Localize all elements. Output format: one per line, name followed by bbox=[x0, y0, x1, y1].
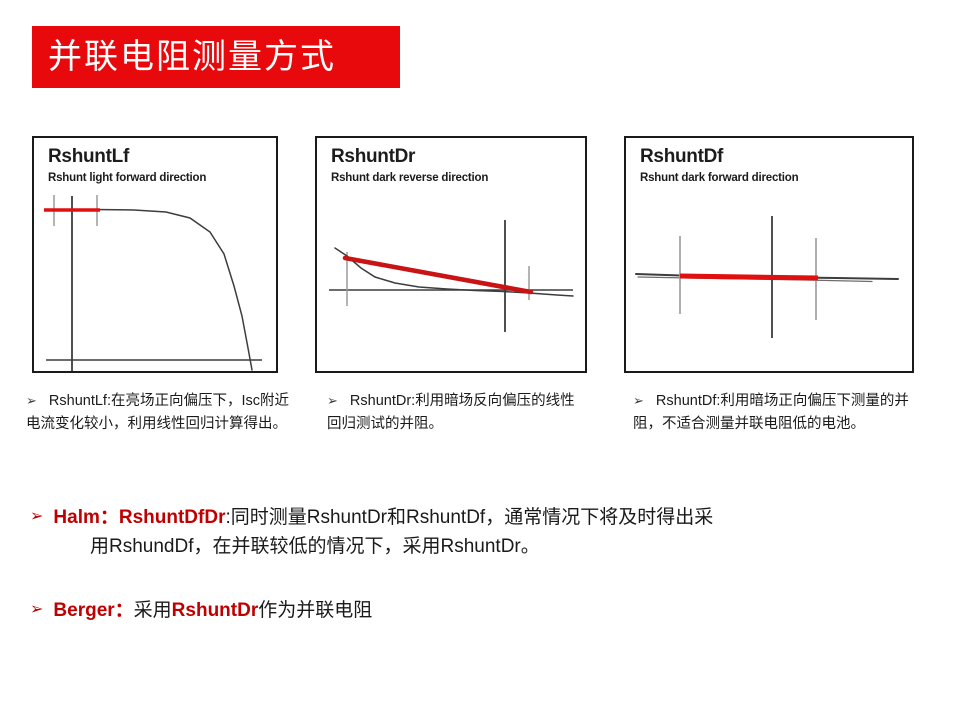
chart-panel-rshuntlf: RshuntLf Rshunt light forward direction bbox=[32, 136, 278, 373]
note-rshuntdf: ➢RshuntDf:利用暗场正向偏压下测量的并阻，不适合测量并联电阻低的电池。 bbox=[633, 390, 913, 437]
bullet-arrow-icon: ➢ bbox=[30, 508, 43, 525]
conclusion-halm: ➢Halm：RshuntDfDr:同时测量RshuntDr和RshuntDf，通… bbox=[30, 503, 930, 562]
iv-curve bbox=[54, 210, 252, 371]
conclusion-brand-halm: Halm： bbox=[53, 507, 118, 528]
bullet-arrow-icon: ➢ bbox=[30, 601, 43, 618]
conclusion-line1-halm: :同时测量RshuntDr和RshuntDf，通常情况下将及时得出采 bbox=[225, 507, 713, 528]
chart-rshuntdf bbox=[626, 138, 912, 371]
note-lead-rshuntdf: RshuntDf: bbox=[656, 393, 720, 409]
chart-rshuntlf bbox=[34, 138, 276, 371]
iv-curve bbox=[335, 248, 573, 296]
chart-panel-rshuntdr: RshuntDr Rshunt dark reverse direction bbox=[315, 136, 587, 373]
bullet-arrow-icon: ➢ bbox=[327, 393, 338, 408]
slide-title-banner: 并联电阻测量方式 bbox=[32, 26, 400, 88]
page-title: 并联电阻测量方式 bbox=[48, 40, 336, 74]
linear-regression-fit bbox=[680, 276, 818, 278]
chart-rshuntdr bbox=[317, 138, 585, 371]
conclusion-line2-halm: 用RshundDf，在并联较低的情况下，采用RshuntDr。 bbox=[30, 532, 930, 561]
note-rshuntlf: ➢RshuntLf:在亮场正向偏压下，Isc附近电流变化较小，利用线性回归计算得… bbox=[26, 390, 294, 437]
note-rshuntdr: ➢RshuntDr:利用暗场反向偏压的线性回归测试的并阻。 bbox=[327, 390, 585, 437]
chart-panel-rshuntdf: RshuntDf Rshunt dark forward direction bbox=[624, 136, 914, 373]
note-lead-rshuntlf: RshuntLf: bbox=[49, 393, 111, 409]
conclusion-term-rshuntdr: RshuntDr bbox=[172, 600, 259, 621]
note-lead-rshuntdr: RshuntDr: bbox=[350, 393, 415, 409]
conclusion-post-berger: 作为并联电阻 bbox=[258, 600, 372, 621]
bullet-arrow-icon: ➢ bbox=[26, 393, 37, 408]
conclusion-term-rshuntdfdr: RshuntDfDr bbox=[119, 507, 226, 528]
bullet-arrow-icon: ➢ bbox=[633, 393, 644, 408]
conclusion-berger: ➢Berger：采用RshuntDr作为并联电阻 bbox=[30, 596, 930, 625]
slide-canvas: 并联电阻测量方式 RshuntLf Rshunt light forward d… bbox=[0, 0, 960, 720]
conclusion-brand-berger: Berger： bbox=[53, 600, 133, 621]
conclusion-pre-berger: 采用 bbox=[134, 600, 172, 621]
